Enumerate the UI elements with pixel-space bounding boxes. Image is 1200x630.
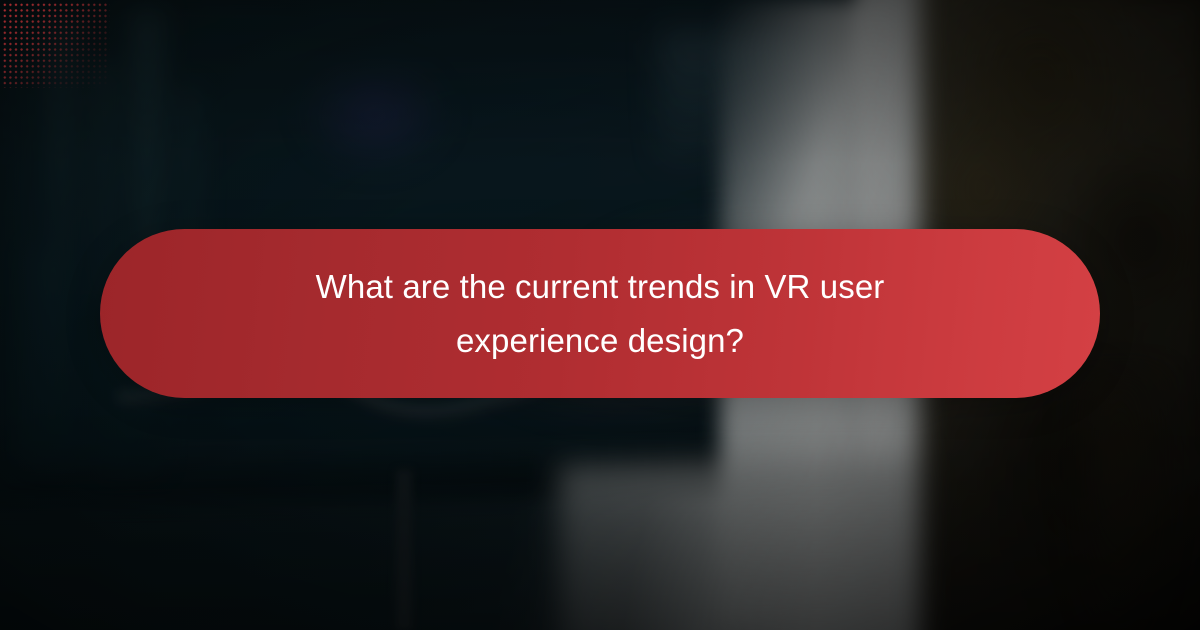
plant-stem <box>1060 370 1180 630</box>
screen-right-panel <box>660 30 830 170</box>
question-text: What are the current trends in VR user e… <box>154 260 1046 367</box>
monitor-stand <box>396 470 412 630</box>
question-pill: What are the current trends in VR user e… <box>100 229 1100 398</box>
screen-violet-highlight <box>300 60 450 170</box>
desk-surface <box>558 454 1200 630</box>
question-card-image: What are the current trends in VR user e… <box>0 0 1200 630</box>
dot-grid-decoration <box>2 2 110 88</box>
